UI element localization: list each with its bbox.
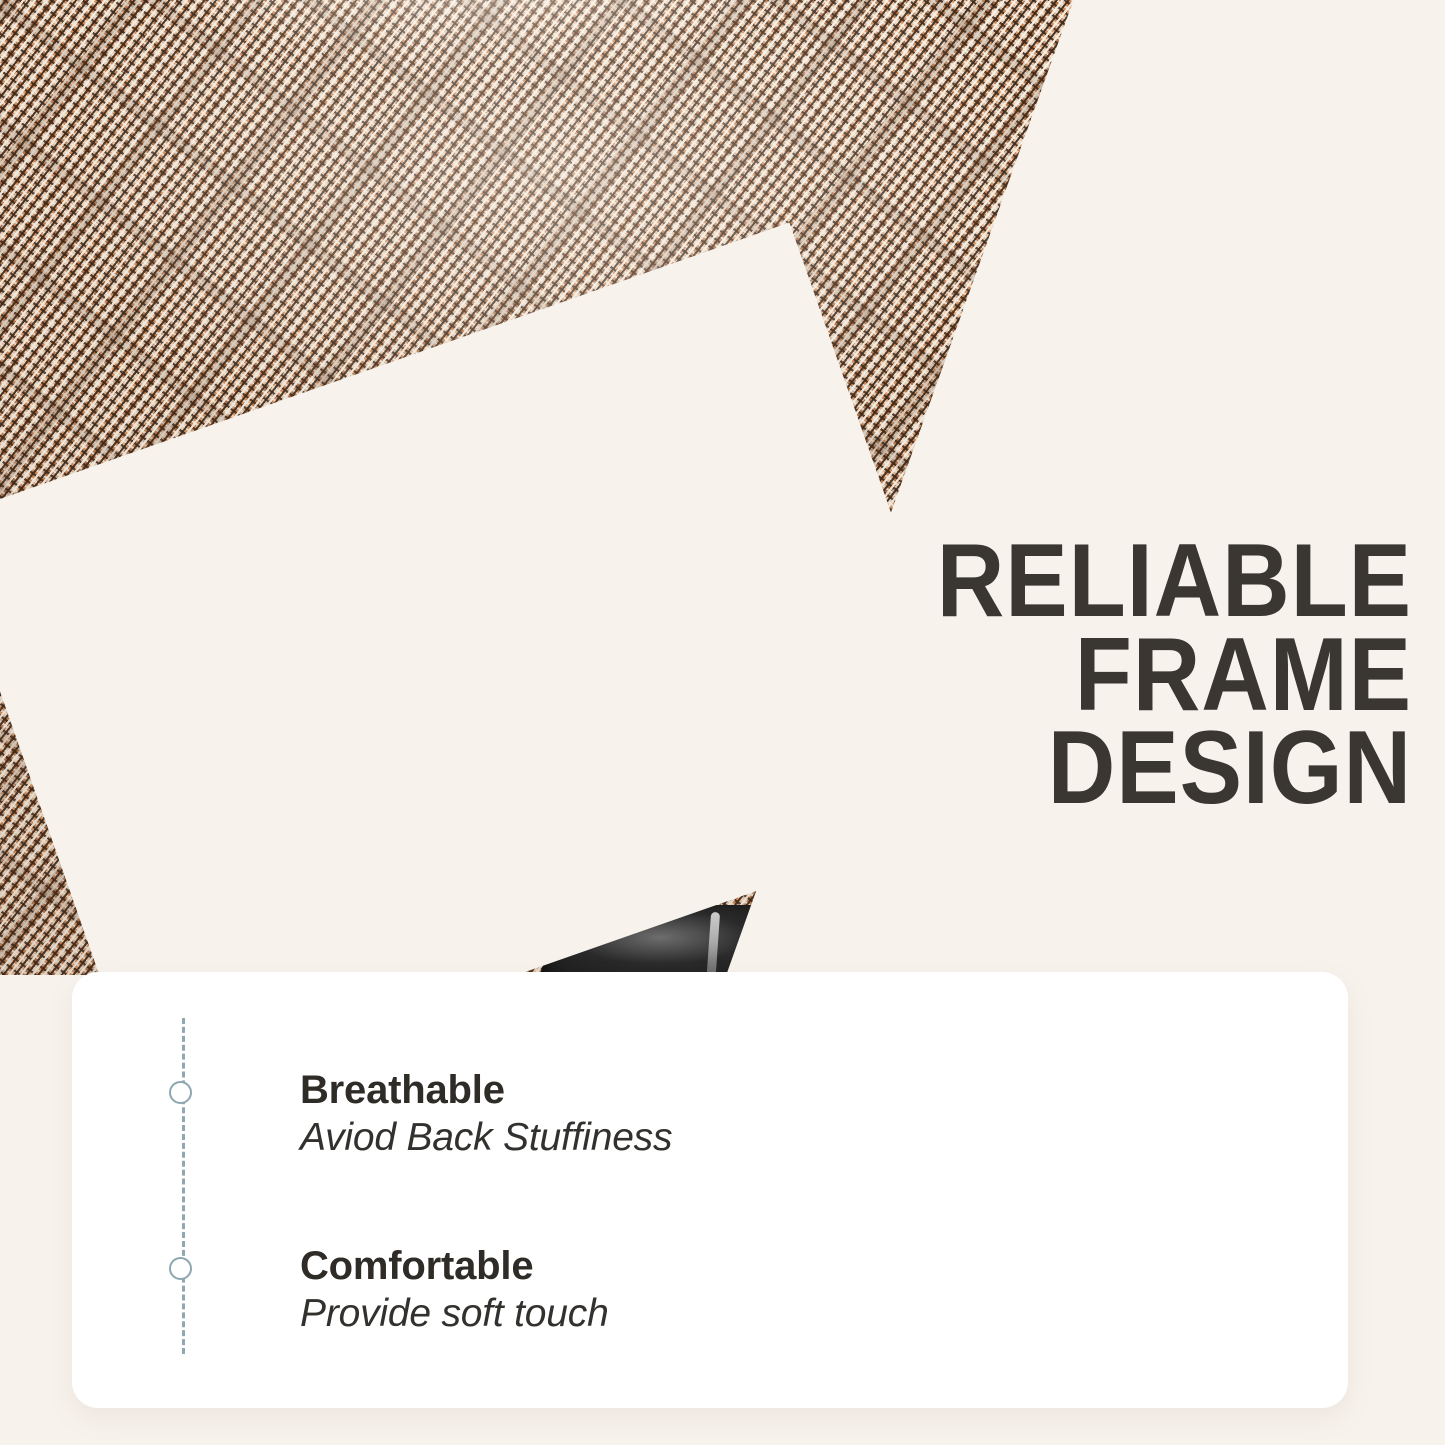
dashed-timeline-rail <box>182 1018 185 1354</box>
headline: RELIABLE FRAME DESIGN <box>836 535 1412 816</box>
headline-line-1: RELIABLE <box>836 535 1412 629</box>
feature-subtitle: Provide soft touch <box>300 1292 609 1336</box>
feature-title: Breathable <box>300 1068 505 1113</box>
hero-fabric-photo <box>0 0 1445 990</box>
feature-title: Comfortable <box>300 1244 533 1289</box>
product-marketing-poster: RELIABLE FRAME DESIGN Breathable Aviod B… <box>0 0 1445 1445</box>
feature-subtitle: Aviod Back Stuffiness <box>300 1116 672 1160</box>
headline-line-2: FRAME <box>836 629 1412 723</box>
headline-line-3: DESIGN <box>836 722 1412 816</box>
feature-card: Breathable Aviod Back Stuffiness Comfort… <box>72 972 1348 1408</box>
bullet-circle-icon <box>169 1081 192 1104</box>
bullet-circle-icon <box>169 1257 192 1280</box>
feature-list: Breathable Aviod Back Stuffiness Comfort… <box>182 1000 802 1380</box>
